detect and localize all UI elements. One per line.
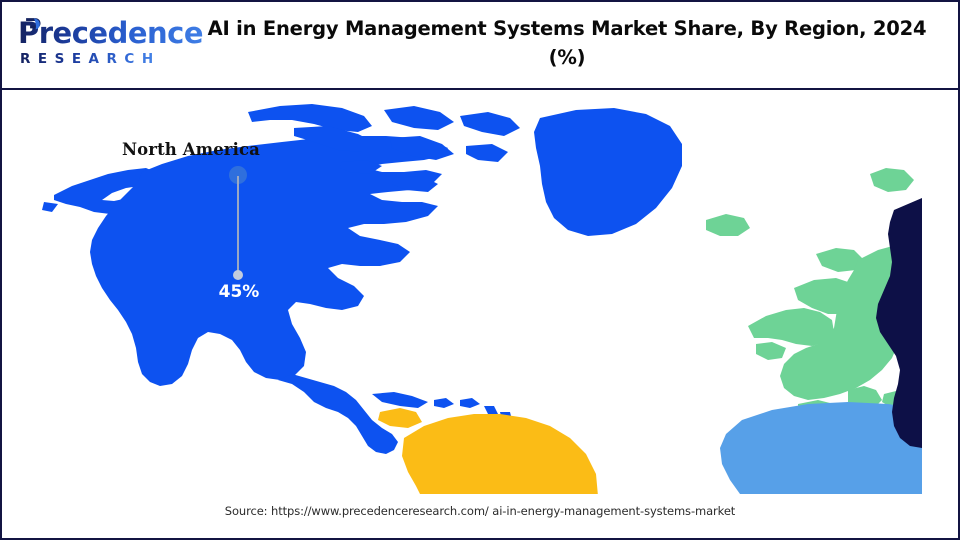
logo-wordmark: Precedence	[18, 16, 203, 50]
map-region-latin-america[interactable]	[378, 408, 598, 494]
precedence-research-logo: Precedence RESEARCH	[16, 16, 176, 74]
callout-value-label: 45%	[194, 282, 284, 302]
market-share-infographic: Precedence RESEARCH AI in Energy Managem…	[0, 0, 960, 540]
map-container: North America 45%	[2, 90, 958, 500]
header-bar: Precedence RESEARCH AI in Energy Managem…	[2, 2, 958, 90]
footer-bar: Source: https://www.precedenceresearch.c…	[2, 500, 958, 538]
callout-region-label: North America	[122, 140, 260, 159]
logo-subtext: RESEARCH	[20, 51, 161, 67]
source-url: Source: https://www.precedenceresearch.c…	[2, 504, 958, 518]
page-title: AI in Energy Management Systems Market S…	[192, 14, 942, 72]
callout-marker-bottom-dot	[233, 270, 243, 280]
callout-connector-line	[237, 176, 239, 274]
